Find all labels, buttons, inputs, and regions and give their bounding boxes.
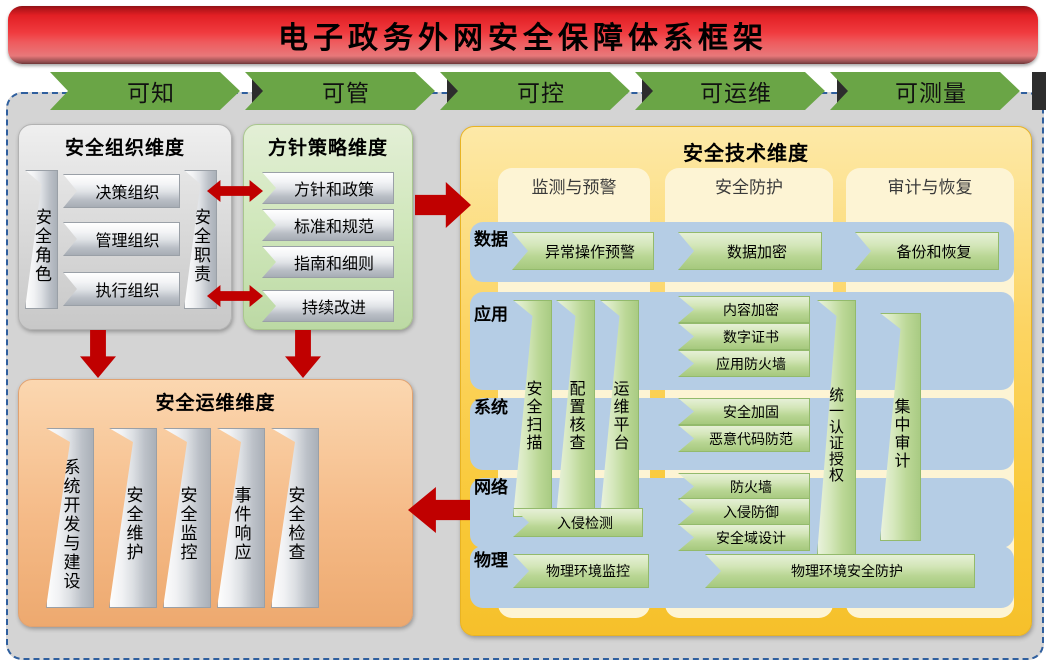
tech-dimension-title: 安全技术维度 <box>461 137 1031 166</box>
tech-chip-backup-recovery[interactable]: 备份和恢复 <box>855 232 999 270</box>
tech-chip-firewall[interactable]: 防火墙 <box>678 473 810 500</box>
tech-chip-malicious-code-prevention[interactable]: 恶意代码防范 <box>678 425 810 452</box>
policy-item-guideline-policy[interactable]: 方针和政策 <box>262 172 394 204</box>
tech-row-label-physical: 物理 <box>472 553 510 570</box>
tech-chip-data-encryption[interactable]: 数据加密 <box>678 232 822 270</box>
tech-chip-physical-environment-protection[interactable]: 物理环境安全防护 <box>705 554 975 588</box>
ops-dimension-title: 安全运维维度 <box>19 388 412 415</box>
policy-item-continuous-improvement[interactable]: 持续改进 <box>262 290 394 322</box>
org-item-execution[interactable]: 执行组织 <box>63 272 180 306</box>
tech-row-label-data: 数据 <box>472 232 510 249</box>
tech-column-title: 监测与预警 <box>498 173 650 198</box>
page-title: 电子政务外网安全保障体系框架 <box>278 13 768 57</box>
org-item-decision[interactable]: 决策组织 <box>63 174 180 208</box>
chevron-banner-kezhi[interactable]: 可知 <box>50 72 240 110</box>
page-title-bar: 电子政务外网安全保障体系框架 <box>8 6 1038 64</box>
tech-chip-abnormal-operation-alert[interactable]: 异常操作预警 <box>512 232 654 270</box>
chevron-banner-keguan[interactable]: 可管 <box>245 72 435 110</box>
tech-column-title: 安全防护 <box>665 173 833 198</box>
tech-chip-intrusion-prevention[interactable]: 入侵防御 <box>678 498 810 525</box>
chevron-label: 可控 <box>505 74 565 108</box>
tech-chip-security-hardening[interactable]: 安全加固 <box>678 398 810 425</box>
tech-chip-application-firewall[interactable]: 应用防火墙 <box>678 350 810 377</box>
tech-chip-security-zone-design[interactable]: 安全域设计 <box>678 524 810 551</box>
chevron-banner-keceliang[interactable]: 可测量 <box>830 72 1020 110</box>
policy-dimension-title: 方针策略维度 <box>244 133 412 160</box>
tech-row-label-system: 系统 <box>472 400 510 417</box>
tech-row-label-network: 网络 <box>472 480 510 497</box>
chevron-banner-kekong[interactable]: 可控 <box>440 72 630 110</box>
tech-chip-content-encryption[interactable]: 内容加密 <box>678 296 810 323</box>
tech-row-label-application: 应用 <box>472 307 510 324</box>
chevron-label: 可运维 <box>688 74 772 108</box>
diagram-canvas: 电子政务外网安全保障体系框架 可知 可管 可控 可运维 可测量 安全组织维度 安… <box>0 0 1046 666</box>
chevron-label: 可知 <box>115 74 175 108</box>
tech-chip-intrusion-detection[interactable]: 入侵检测 <box>513 508 643 537</box>
tech-column-title: 审计与恢复 <box>846 173 1014 198</box>
chevron-label: 可管 <box>310 74 370 108</box>
policy-item-guide-rules[interactable]: 指南和细则 <box>262 246 394 278</box>
policy-item-standard-norm[interactable]: 标准和规范 <box>262 209 394 241</box>
tech-chip-digital-certificate[interactable]: 数字证书 <box>678 323 810 350</box>
tech-chip-physical-environment-monitoring[interactable]: 物理环境监控 <box>513 554 649 588</box>
chevron-banner-keyunwei[interactable]: 可运维 <box>635 72 825 110</box>
org-dimension-title: 安全组织维度 <box>19 133 231 160</box>
org-item-management[interactable]: 管理组织 <box>63 222 180 256</box>
chevron-label: 可测量 <box>883 74 967 108</box>
